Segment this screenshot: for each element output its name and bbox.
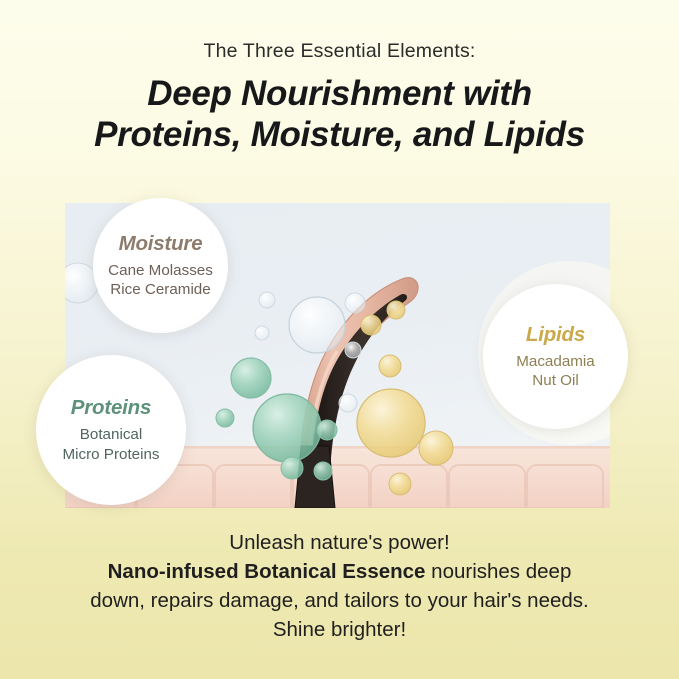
callout-proteins[interactable]: Proteins Botanical Micro Proteins	[36, 355, 186, 505]
footer-line-1: Unleash nature's power!	[34, 528, 645, 557]
callout-proteins-line-1: Botanical	[80, 425, 142, 444]
callout-lipids-title: Lipids	[526, 323, 585, 347]
headline-line-2: Proteins, Moisture, and Lipids	[0, 115, 679, 156]
callout-proteins-line-2: Micro Proteins	[62, 445, 159, 464]
footer-line-4: Shine brighter!	[34, 615, 645, 644]
callout-proteins-title: Proteins	[71, 396, 151, 420]
footer-line-2-rest: nourishes deep	[425, 560, 571, 583]
callout-moisture-line-1: Cane Molasses	[108, 261, 213, 280]
callout-moisture[interactable]: Moisture Cane Molasses Rice Ceramide	[93, 198, 228, 333]
callout-lipids[interactable]: Lipids Macadamia Nut Oil	[483, 284, 628, 429]
callout-lipids-line-2: Nut Oil	[532, 371, 578, 390]
footer-line-3: down, repairs damage, and tailors to you…	[34, 586, 645, 615]
footer-line-2: Nano-infused Botanical Essence nourishes…	[34, 557, 645, 586]
headline-line-1: Deep Nourishment with	[0, 74, 679, 115]
callout-moisture-title: Moisture	[119, 232, 203, 256]
page-title: Deep Nourishment with Proteins, Moisture…	[0, 74, 679, 156]
callout-moisture-line-2: Rice Ceramide	[110, 280, 210, 299]
footer-copy: Unleash nature's power! Nano-infused Bot…	[0, 528, 679, 644]
callout-lipids-line-1: Macadamia	[516, 352, 595, 371]
eyebrow-text: The Three Essential Elements:	[0, 40, 679, 63]
header: The Three Essential Elements: Deep Nouri…	[0, 0, 679, 156]
footer-brand-phrase: Nano-infused Botanical Essence	[108, 560, 426, 583]
